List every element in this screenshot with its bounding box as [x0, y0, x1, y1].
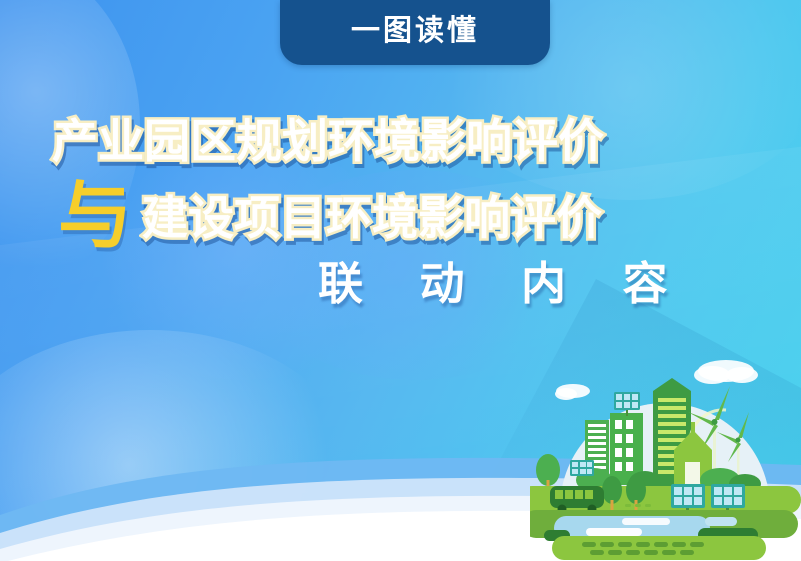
top-banner-tab: 一图读懂 [280, 0, 550, 65]
lake-highlight [622, 518, 670, 525]
banner-label: 一图读懂 [351, 17, 479, 48]
lake-highlight [705, 517, 737, 526]
grass-field [552, 536, 766, 560]
infographic-poster: 一图读懂 产业园区规划环境影响评价 与 建设项目环境影响评价 联 动 内 容 [0, 0, 801, 561]
title-line-1: 产业园区规划环境影响评价 [52, 118, 700, 164]
title-row-2: 与 建设项目环境影响评价 [58, 180, 700, 241]
cloud-icon [555, 384, 590, 400]
title-line-3: 联 动 内 容 [318, 261, 700, 306]
eco-industrial-park-illustration [530, 358, 801, 561]
cloud-icon [694, 360, 758, 384]
page-title: 产业园区规划环境影响评价 与 建设项目环境影响评价 联 动 内 容 [0, 118, 700, 306]
solar-panel-array [570, 460, 594, 476]
lake-highlight [586, 528, 642, 536]
title-conjunction: 与 [58, 186, 132, 247]
title-line-2: 建设项目环境影响评价 [142, 195, 602, 241]
